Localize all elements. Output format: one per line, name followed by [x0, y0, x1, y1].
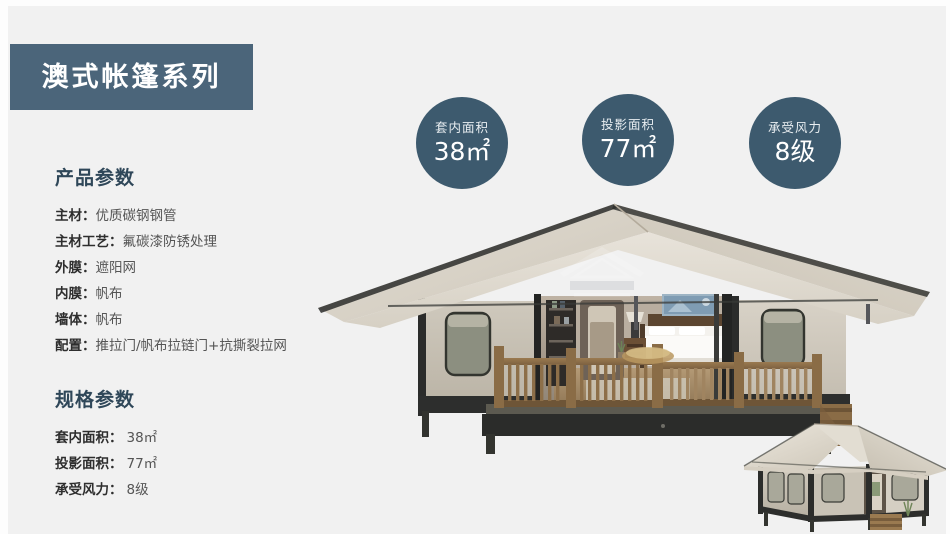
spec-label: 套内面积：: [55, 430, 123, 446]
product-param-row: 外膜：遮阳网: [55, 255, 355, 281]
badge-label: 投影面积: [601, 119, 655, 132]
series-title-banner: 澳式帐篷系列: [10, 44, 253, 110]
badge-value: 38㎡: [434, 139, 491, 164]
slide-canvas: 澳式帐篷系列 产品参数 主材：优质碳钢钢管 主材工艺：氟碳漆防锈处理 外膜：遮阳…: [0, 0, 950, 534]
param-value: 优质碳钢钢管: [96, 208, 177, 224]
spec-param-row: 承受风力：8级: [55, 477, 355, 503]
product-params-heading: 产品参数: [55, 163, 355, 190]
product-param-row: 主材：优质碳钢钢管: [55, 203, 355, 229]
spec-param-row: 套内面积：38㎡: [55, 425, 355, 451]
param-label: 墙体：: [55, 312, 96, 328]
param-label: 主材：: [55, 208, 96, 224]
param-value: 推拉门/帆布拉链门+抗撕裂拉网: [96, 338, 287, 354]
top-edge-gutter: [0, 0, 950, 6]
product-param-row: 配置：推拉门/帆布拉链门+抗撕裂拉网: [55, 333, 355, 359]
badge-value: 77㎡: [600, 136, 657, 161]
param-value: 遮阳网: [96, 260, 137, 276]
param-label: 外膜：: [55, 260, 96, 276]
spec-label: 投影面积：: [55, 456, 123, 472]
badge-label: 承受风力: [768, 122, 822, 135]
secondary-tent-illustration: [742, 414, 950, 534]
badge-label: 套内面积: [435, 122, 489, 135]
param-label: 配置：: [55, 338, 96, 354]
spec-value: 8级: [123, 482, 149, 498]
page-title: 澳式帐篷系列: [42, 64, 222, 91]
param-value: 氟碳漆防锈处理: [123, 234, 218, 250]
stat-badge-interior-area: 套内面积 38㎡: [416, 97, 508, 189]
param-value: 帆布: [96, 286, 123, 302]
product-param-row: 墙体：帆布: [55, 307, 355, 333]
param-label: 主材工艺：: [55, 234, 123, 250]
spec-param-row: 投影面积：77㎡: [55, 451, 355, 477]
product-param-row: 主材工艺：氟碳漆防锈处理: [55, 229, 355, 255]
stat-badge-wind-resistance: 承受风力 8级: [749, 97, 841, 189]
param-label: 内膜：: [55, 286, 96, 302]
spec-value: 38㎡: [123, 430, 158, 446]
param-value: 帆布: [96, 312, 123, 328]
spec-value: 77㎡: [123, 456, 158, 472]
spec-label: 承受风力：: [55, 482, 123, 498]
product-param-row: 内膜：帆布: [55, 281, 355, 307]
badge-value: 8级: [775, 139, 816, 164]
left-edge-gutter: [0, 0, 8, 534]
specs-column: 产品参数 主材：优质碳钢钢管 主材工艺：氟碳漆防锈处理 外膜：遮阳网 内膜：帆布…: [55, 163, 355, 503]
spec-params-heading: 规格参数: [55, 385, 355, 412]
stat-badge-projected-area: 投影面积 77㎡: [582, 94, 674, 186]
right-edge-gutter: [946, 0, 950, 534]
